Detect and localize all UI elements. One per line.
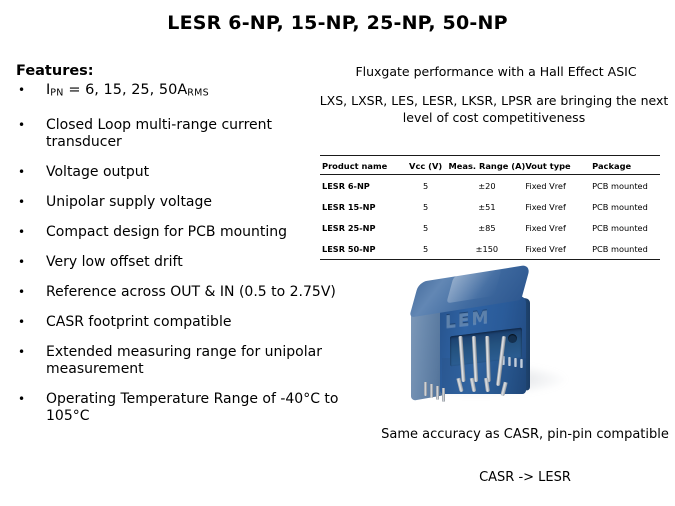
product-photo: LEM	[398, 270, 618, 408]
feature-text-ipn: IPN = 6, 15, 25, 50ARMS	[46, 82, 209, 98]
column-header-meas-range: Meas. Range (A)	[448, 156, 525, 175]
list-item: • Very low offset drift	[16, 254, 346, 271]
cell-product-name: LESR 25-NP	[320, 217, 403, 238]
bullet-glyph: •	[18, 284, 25, 301]
ipn-subscript: PN	[50, 88, 63, 99]
cell-meas-range: ±20	[448, 175, 525, 197]
features-heading: Features:	[16, 63, 94, 79]
bottom-pin	[430, 384, 433, 398]
cell-product-name: LESR 15-NP	[320, 196, 403, 217]
column-header-package: Package	[586, 156, 660, 175]
bullet-glyph: •	[18, 194, 25, 211]
page-title: LESR 6-NP, 15-NP, 25-NP, 50-NP	[0, 12, 675, 34]
list-item: • Unipolar supply voltage	[16, 194, 346, 211]
feature-text: Very low offset drift	[46, 254, 183, 270]
column-header-product-name: Product name	[320, 156, 403, 175]
list-item: • Compact design for PCB mounting	[16, 224, 346, 241]
cell-package: PCB mounted	[586, 175, 660, 197]
features-list: • IPN = 6, 15, 25, 50ARMS • Closed Loop …	[16, 82, 346, 438]
bullet-glyph: •	[18, 314, 25, 331]
list-item: • Operating Temperature Range of -40°C t…	[16, 391, 346, 425]
feature-text: Unipolar supply voltage	[46, 194, 212, 210]
table-row: LESR 15-NP 5 ±51 Fixed Vref PCB mounted	[320, 196, 660, 217]
cell-package: PCB mounted	[586, 196, 660, 217]
bullet-glyph: •	[18, 391, 25, 408]
cell-vcc: 5	[403, 238, 449, 260]
cell-package: PCB mounted	[586, 238, 660, 260]
secondary-pin	[514, 358, 517, 367]
cell-vcc: 5	[403, 196, 449, 217]
bottom-pin	[442, 388, 445, 402]
cell-vcc: 5	[403, 217, 449, 238]
ipn-values: = 6, 15, 25, 50A	[64, 82, 188, 98]
feature-text: Compact design for PCB mounting	[46, 224, 287, 240]
cell-vout-type: Fixed Vref	[525, 196, 586, 217]
column-header-vout-type: Vout type	[525, 156, 586, 175]
bullet-glyph: •	[18, 164, 25, 181]
bottom-pin	[424, 382, 427, 396]
column-header-vcc: Vcc (V)	[403, 156, 449, 175]
bullet-glyph: •	[18, 224, 25, 241]
list-item: • Extended measuring range for unipolar …	[16, 344, 346, 378]
intro-line-1: Fluxgate performance with a Hall Effect …	[322, 64, 670, 79]
cell-package: PCB mounted	[586, 217, 660, 238]
list-item: • Closed Loop multi-range current transd…	[16, 117, 346, 151]
cell-product-name: LESR 50-NP	[320, 238, 403, 260]
bullet-glyph: •	[18, 82, 25, 99]
photo-caption-accuracy: Same accuracy as CASR, pin-pin compatibl…	[380, 426, 670, 443]
cell-vout-type: Fixed Vref	[525, 175, 586, 197]
cell-product-name: LESR 6-NP	[320, 175, 403, 197]
feature-text: Extended measuring range for unipolar me…	[46, 344, 322, 377]
list-item: • Voltage output	[16, 164, 346, 181]
feature-text: Operating Temperature Range of -40°C to …	[46, 391, 339, 424]
photo-caption-migration: CASR -> LESR	[380, 470, 670, 485]
cell-vout-type: Fixed Vref	[525, 238, 586, 260]
cell-vcc: 5	[403, 175, 449, 197]
list-item: • IPN = 6, 15, 25, 50ARMS	[16, 82, 346, 102]
intro-line-2: LXS, LXSR, LES, LESR, LKSR, LPSR are bri…	[318, 92, 670, 126]
feature-text: Voltage output	[46, 164, 149, 180]
feature-text: CASR footprint compatible	[46, 314, 231, 330]
table-row: LESR 50-NP 5 ±150 Fixed Vref PCB mounted	[320, 238, 660, 260]
bullet-glyph: •	[18, 344, 25, 361]
cell-vout-type: Fixed Vref	[525, 217, 586, 238]
table-header-row: Product name Vcc (V) Meas. Range (A) Vou…	[320, 156, 660, 175]
list-item: • Reference across OUT & IN (0.5 to 2.75…	[16, 284, 346, 301]
table-row: LESR 25-NP 5 ±85 Fixed Vref PCB mounted	[320, 217, 660, 238]
cell-meas-range: ±85	[448, 217, 525, 238]
list-item: • CASR footprint compatible	[16, 314, 346, 331]
table-row: LESR 6-NP 5 ±20 Fixed Vref PCB mounted	[320, 175, 660, 197]
secondary-pin	[508, 357, 511, 366]
bottom-pin	[436, 386, 439, 400]
feature-text: Closed Loop multi-range current transduc…	[46, 117, 272, 150]
rms-subscript: RMS	[187, 88, 209, 99]
bullet-glyph: •	[18, 117, 25, 134]
cell-meas-range: ±150	[448, 238, 525, 260]
module-mounting-hole	[508, 334, 517, 343]
bullet-glyph: •	[18, 254, 25, 271]
secondary-pin	[520, 359, 523, 368]
cell-meas-range: ±51	[448, 196, 525, 217]
feature-text: Reference across OUT & IN (0.5 to 2.75V)	[46, 284, 336, 300]
product-spec-table: Product name Vcc (V) Meas. Range (A) Vou…	[320, 155, 660, 260]
